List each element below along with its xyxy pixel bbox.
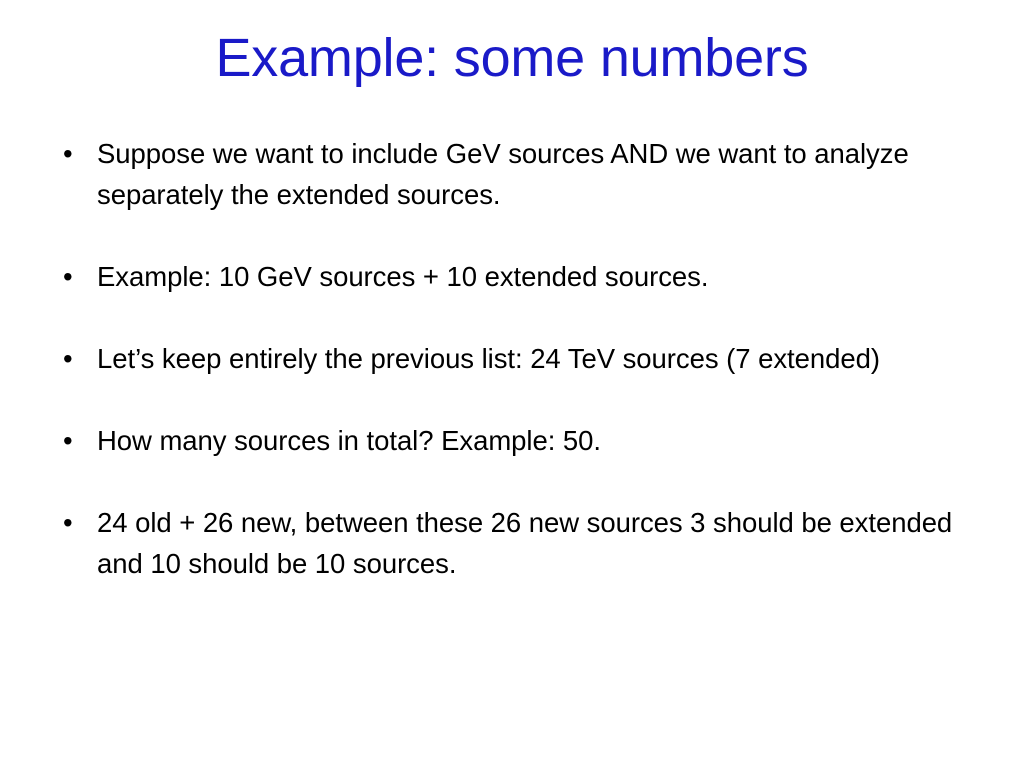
bullet-point-icon: •	[63, 338, 83, 379]
list-item: • Example: 10 GeV sources + 10 extended …	[56, 256, 968, 297]
bullet-point-icon: •	[63, 502, 83, 543]
bullet-point-icon: •	[63, 256, 83, 297]
list-item: • 24 old + 26 new, between these 26 new …	[56, 502, 968, 584]
list-item-text: How many sources in total? Example: 50.	[97, 420, 968, 461]
list-item-text: Suppose we want to include GeV sources A…	[97, 133, 968, 215]
list-item: • Let’s keep entirely the previous list:…	[56, 338, 968, 379]
presentation-slide: Example: some numbers • Suppose we want …	[0, 0, 1024, 768]
page-title: Example: some numbers	[0, 26, 1024, 90]
bullet-point-icon: •	[63, 420, 83, 461]
bullet-point-icon: •	[63, 133, 83, 174]
list-item-text: 24 old + 26 new, between these 26 new so…	[97, 502, 968, 584]
list-item: • Suppose we want to include GeV sources…	[56, 133, 968, 215]
bullet-list: • Suppose we want to include GeV sources…	[56, 133, 968, 584]
list-item-text: Let’s keep entirely the previous list: 2…	[97, 338, 968, 379]
list-item: • How many sources in total? Example: 50…	[56, 420, 968, 461]
list-item-text: Example: 10 GeV sources + 10 extended so…	[97, 256, 968, 297]
